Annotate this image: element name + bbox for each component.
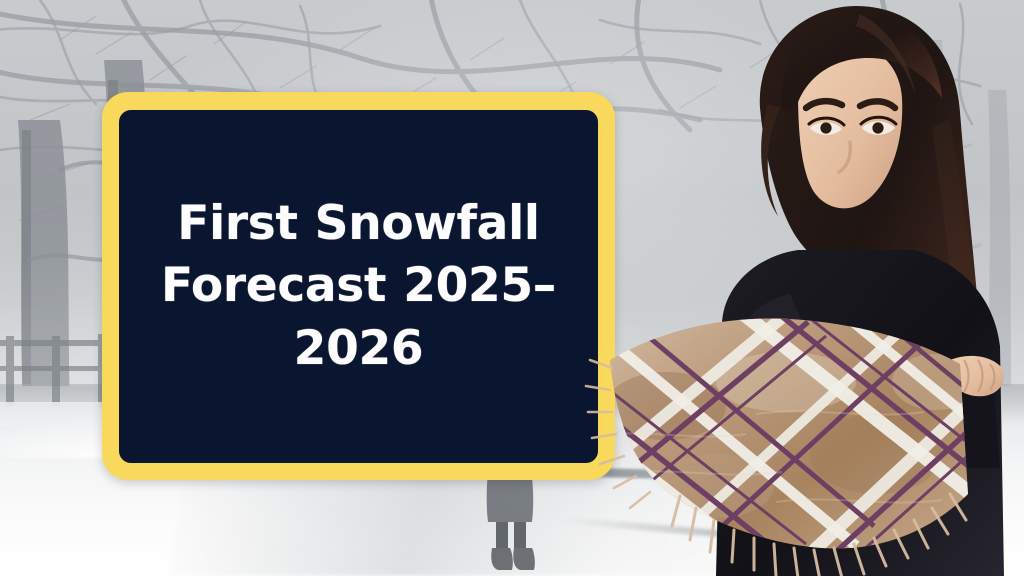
thumbnail-canvas: First Snowfall Forecast 2025– 2026 (0, 0, 1024, 576)
title-card-inner: First Snowfall Forecast 2025– 2026 (119, 110, 598, 463)
page-title: First Snowfall Forecast 2025– 2026 (153, 193, 564, 381)
title-card: First Snowfall Forecast 2025– 2026 (102, 92, 615, 480)
title-line-2: Forecast 2025– (161, 258, 556, 313)
plaid-scarf (576, 286, 976, 576)
title-line-3: 2026 (294, 321, 424, 376)
title-line-1: First Snowfall (177, 196, 539, 251)
